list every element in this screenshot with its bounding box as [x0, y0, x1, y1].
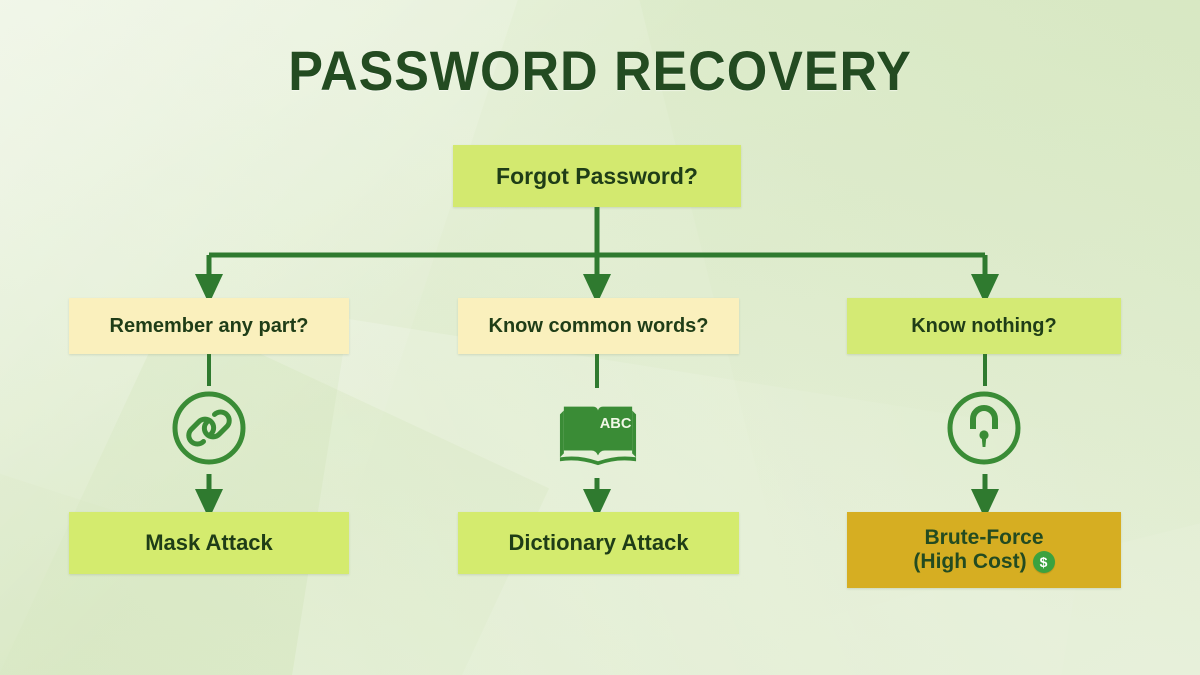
page-title: PASSWORD RECOVERY: [42, 38, 1158, 103]
node-forgot-password[interactable]: Forgot Password?: [453, 145, 741, 207]
background-texture-shape: [261, 319, 1099, 675]
open-padlock-circle-icon: [944, 388, 1024, 468]
node-question-know-common-words[interactable]: Know common words?: [458, 298, 739, 354]
book-abc-label: ABC: [600, 416, 632, 432]
high-cost-dollar-badge-icon: $: [1033, 551, 1055, 573]
node-question-remember-any-part[interactable]: Remember any part?: [69, 298, 349, 354]
link-chain-circle-icon: [169, 388, 249, 468]
node-answer-dictionary-attack[interactable]: Dictionary Attack: [458, 512, 739, 574]
node-question-know-nothing[interactable]: Know nothing?: [847, 298, 1121, 354]
open-book-abc-icon: ABC: [558, 390, 638, 470]
brute-force-line-2: (High Cost) $: [913, 550, 1054, 574]
node-answer-brute-force[interactable]: Brute-Force (High Cost) $: [847, 512, 1121, 588]
diagram-canvas: PASSWORD RECOVERY Forgot Password? Remem…: [0, 0, 1200, 675]
brute-force-line-1: Brute-Force: [924, 526, 1043, 550]
node-answer-mask-attack[interactable]: Mask Attack: [69, 512, 349, 574]
brute-force-cost-text: (High Cost): [913, 550, 1026, 574]
background-texture-shape: [0, 311, 549, 675]
